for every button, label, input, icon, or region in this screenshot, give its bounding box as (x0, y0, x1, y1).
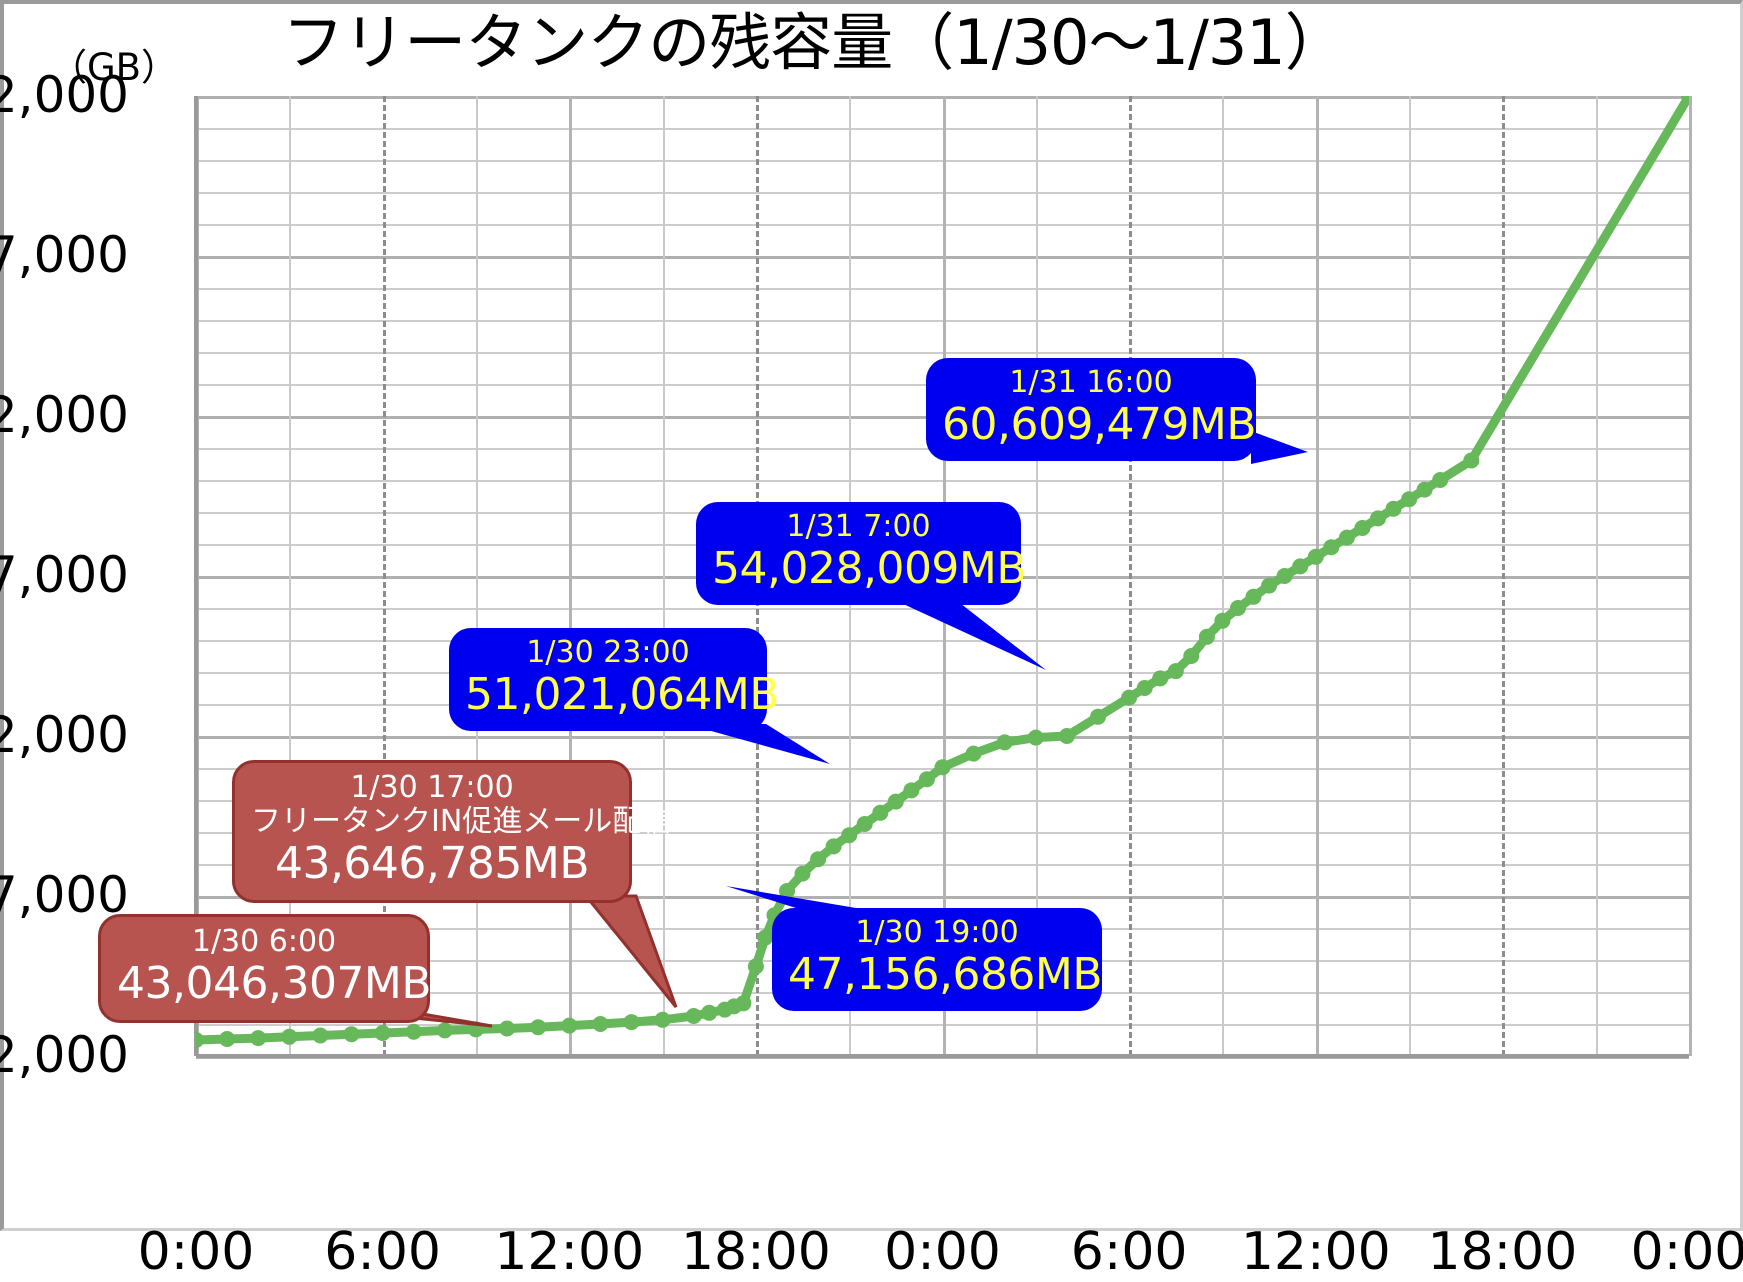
gridline-major-v (1689, 96, 1692, 1056)
y-axis-tick-label: 62,000 (0, 390, 129, 440)
y-axis-tick-label: 72,000 (0, 70, 129, 120)
page-title: フリータンクの残容量（1/30〜1/31） (254, 12, 1374, 74)
x-axis-tick-label: 0:00 (1559, 1226, 1743, 1278)
callout-tail (196, 96, 1689, 1056)
y-axis-tick-label: 47,000 (0, 870, 129, 920)
chart-frame: フリータンクの残容量（1/30〜1/31） （GB） 42,00047,0005… (0, 0, 1743, 1231)
plot-area: 42,00047,00052,00057,00062,00067,00072,0… (196, 96, 1689, 1056)
callout-bubble: 1/31 16:0060,609,479MB (926, 358, 1256, 461)
y-axis-tick-label: 52,000 (0, 710, 129, 760)
y-axis-tick-label: 42,000 (0, 1030, 129, 1080)
y-axis-tick-label: 67,000 (0, 230, 129, 280)
callout-time: 1/31 16:00 (942, 366, 1240, 400)
callout-value: 60,609,479MB (942, 400, 1240, 449)
y-axis-tick-label: 57,000 (0, 550, 129, 600)
